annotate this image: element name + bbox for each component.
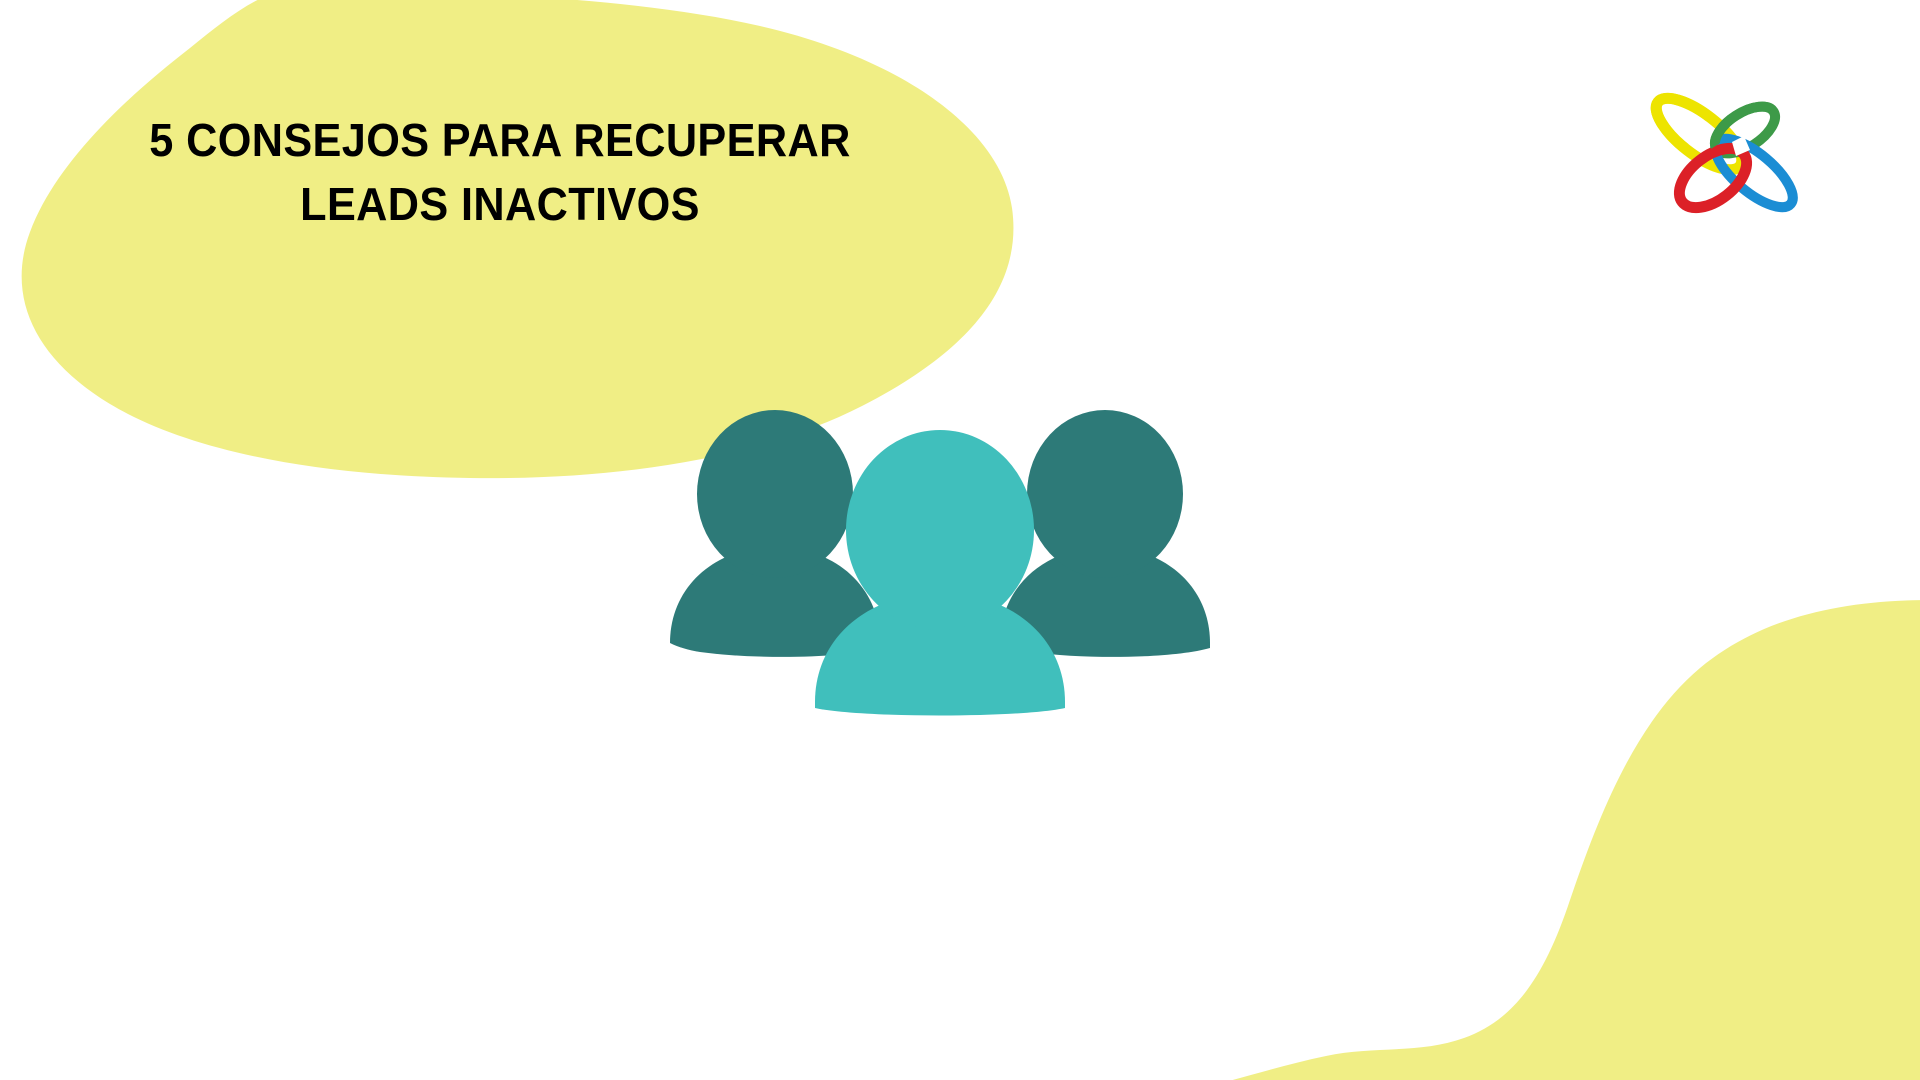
person-head-back-left <box>697 410 853 578</box>
bottom-right-wave-blob <box>1180 600 1920 1080</box>
group-of-people-icon <box>640 390 1240 720</box>
person-figure-front-center <box>815 430 1065 716</box>
title-line-2: LEADS INACTIVOS <box>105 172 895 236</box>
page-title: 5 CONSEJOS PARA RECUPERAR LEADS INACTIVO… <box>80 108 920 236</box>
title-line-1: 5 CONSEJOS PARA RECUPERAR <box>105 108 895 172</box>
person-head-front-center <box>846 430 1034 630</box>
slide-canvas: 5 CONSEJOS PARA RECUPERAR LEADS INACTIVO… <box>0 0 1920 1080</box>
brand-swirl-logo[interactable] <box>1636 72 1816 232</box>
person-head-back-right <box>1027 410 1183 578</box>
